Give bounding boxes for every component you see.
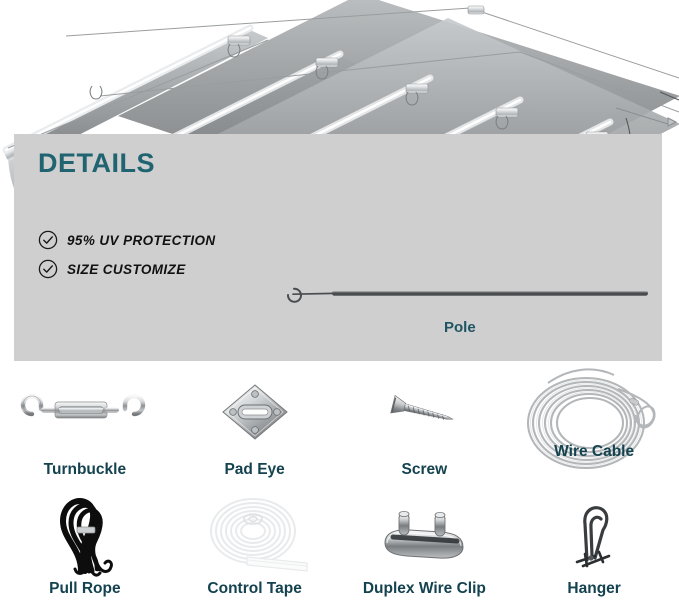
pole-icon bbox=[272, 282, 652, 308]
check-circle-icon bbox=[38, 230, 58, 250]
part-pad-eye: Pad Eye bbox=[170, 372, 340, 491]
control-tape-art bbox=[170, 491, 340, 577]
feature-label: SIZE CUSTOMIZE bbox=[67, 262, 186, 277]
part-pull-rope: Pull Rope bbox=[0, 491, 170, 610]
part-label: Control Tape bbox=[207, 580, 301, 598]
parts-row: Pull Rope bbox=[0, 491, 679, 610]
part-hanger: Hanger bbox=[509, 491, 679, 610]
pole-illustration bbox=[272, 282, 652, 308]
pole-label: Pole bbox=[444, 319, 476, 336]
pad-eye-icon bbox=[215, 379, 295, 445]
part-turnbuckle: Turnbuckle bbox=[0, 372, 170, 491]
hanger-art bbox=[509, 491, 679, 577]
part-duplex-wire-clip: Duplex Wire Clip bbox=[340, 491, 510, 610]
part-control-tape: Control Tape bbox=[170, 491, 340, 610]
pull-rope-art bbox=[0, 491, 170, 577]
feature-item-size-customize: SIZE CUSTOMIZE bbox=[38, 259, 186, 279]
turnbuckle-icon bbox=[20, 384, 150, 440]
details-panel: DETAILS 95% UV PROTECTION SIZE CUSTOMIZE bbox=[14, 134, 662, 361]
part-label: Duplex Wire Clip bbox=[363, 580, 486, 598]
control-tape-icon bbox=[195, 491, 315, 577]
screw-art bbox=[340, 372, 510, 452]
part-label: Wire Cable bbox=[554, 443, 634, 461]
feature-item-uv-protection: 95% UV PROTECTION bbox=[38, 230, 216, 250]
pull-rope-icon bbox=[37, 491, 133, 577]
check-circle-icon bbox=[38, 259, 58, 279]
hanger-icon bbox=[561, 498, 627, 570]
part-label: Hanger bbox=[567, 580, 620, 598]
parts-grid: Turnbuckle bbox=[0, 372, 679, 611]
duplex-wire-clip-icon bbox=[371, 499, 477, 569]
part-label: Screw bbox=[402, 461, 448, 479]
duplex-wire-clip-art bbox=[340, 491, 510, 577]
turnbuckle-art bbox=[0, 372, 170, 452]
part-label: Pull Rope bbox=[49, 580, 120, 598]
screw-icon bbox=[384, 389, 464, 435]
pad-eye-art bbox=[170, 372, 340, 452]
part-screw: Screw bbox=[340, 372, 510, 491]
parts-row: Turnbuckle bbox=[0, 372, 679, 491]
part-wire-cable: Wire Cable bbox=[509, 372, 679, 491]
part-label: Pad Eye bbox=[224, 461, 284, 479]
feature-label: 95% UV PROTECTION bbox=[67, 233, 216, 248]
details-title: DETAILS bbox=[38, 148, 155, 179]
part-label: Turnbuckle bbox=[44, 461, 126, 479]
